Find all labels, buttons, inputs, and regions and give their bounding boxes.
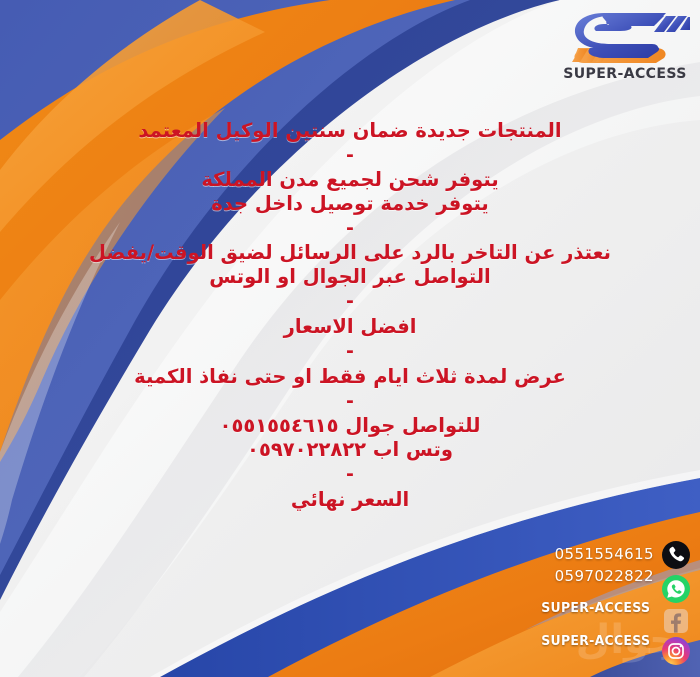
separator-dash-2: - <box>0 216 700 241</box>
whatsapp-icon[interactable] <box>662 575 690 603</box>
ad-line-contact-preference: التواصل عبر الجوال او الوتس <box>0 265 700 289</box>
contact-phone-primary[interactable]: 0551554615 <box>555 543 654 565</box>
ad-line-whatsapp-number: وتس اب ٠٥٩٧٠٢٢٨٢٢ <box>0 438 700 462</box>
super-access-swoosh-logo-icon <box>560 8 690 70</box>
contact-brand-tag-instagram[interactable]: SUPER-ACCESS <box>541 634 650 649</box>
ad-line-offer-duration: عرض لمدة ثلاث ايام فقط او حتى نفاذ الكمي… <box>0 364 700 389</box>
ad-line-final-price: السعر نهائي <box>0 487 700 512</box>
ad-line-best-prices: افضل الاسعار <box>0 314 700 339</box>
social-icon-column <box>658 541 692 669</box>
separator-dash-6: - <box>0 462 700 487</box>
phone-icon[interactable] <box>662 541 690 569</box>
separator-dash-4: - <box>0 339 700 364</box>
contact-brand-tag-facebook[interactable]: SUPER-ACCESS <box>541 601 650 616</box>
ad-line-reply-delay: نعتذر عن التاخر بالرد على الرسائل لضيق ا… <box>0 241 700 265</box>
ad-line-warranty: المنتجات جديدة ضمان سنتين الوكيل المعتمد <box>0 118 700 143</box>
separator-dash-3: - <box>0 289 700 314</box>
ad-line-mobile-number: للتواصل جوال ٠٥٥١٥٥٤٦١٥ <box>0 414 700 438</box>
ad-line-delivery-jeddah: يتوفر خدمة توصيل داخل جدة <box>0 192 700 216</box>
advertisement-canvas: SUPER-ACCESS المنتجات جديدة ضمان سنتين ا… <box>0 0 700 677</box>
instagram-icon[interactable] <box>662 637 690 665</box>
facebook-icon[interactable] <box>662 607 690 635</box>
contact-phone-list: 0551554615 0597022822 <box>555 543 654 587</box>
separator-dash-1: - <box>0 143 700 168</box>
brand-logo: SUPER-ACCESS <box>560 8 690 94</box>
advertisement-copy: المنتجات جديدة ضمان سنتين الوكيل المعتمد… <box>0 118 700 512</box>
contact-block: جوال 0551554615 0597022822 SUPER-ACCESS … <box>532 541 692 669</box>
ad-line-shipping-kingdom: يتوفر شحن لجميع مدن المملكة <box>0 168 700 192</box>
separator-dash-5: - <box>0 389 700 414</box>
brand-logo-text: SUPER-ACCESS <box>562 66 688 82</box>
contact-phone-whatsapp[interactable]: 0597022822 <box>555 565 654 587</box>
